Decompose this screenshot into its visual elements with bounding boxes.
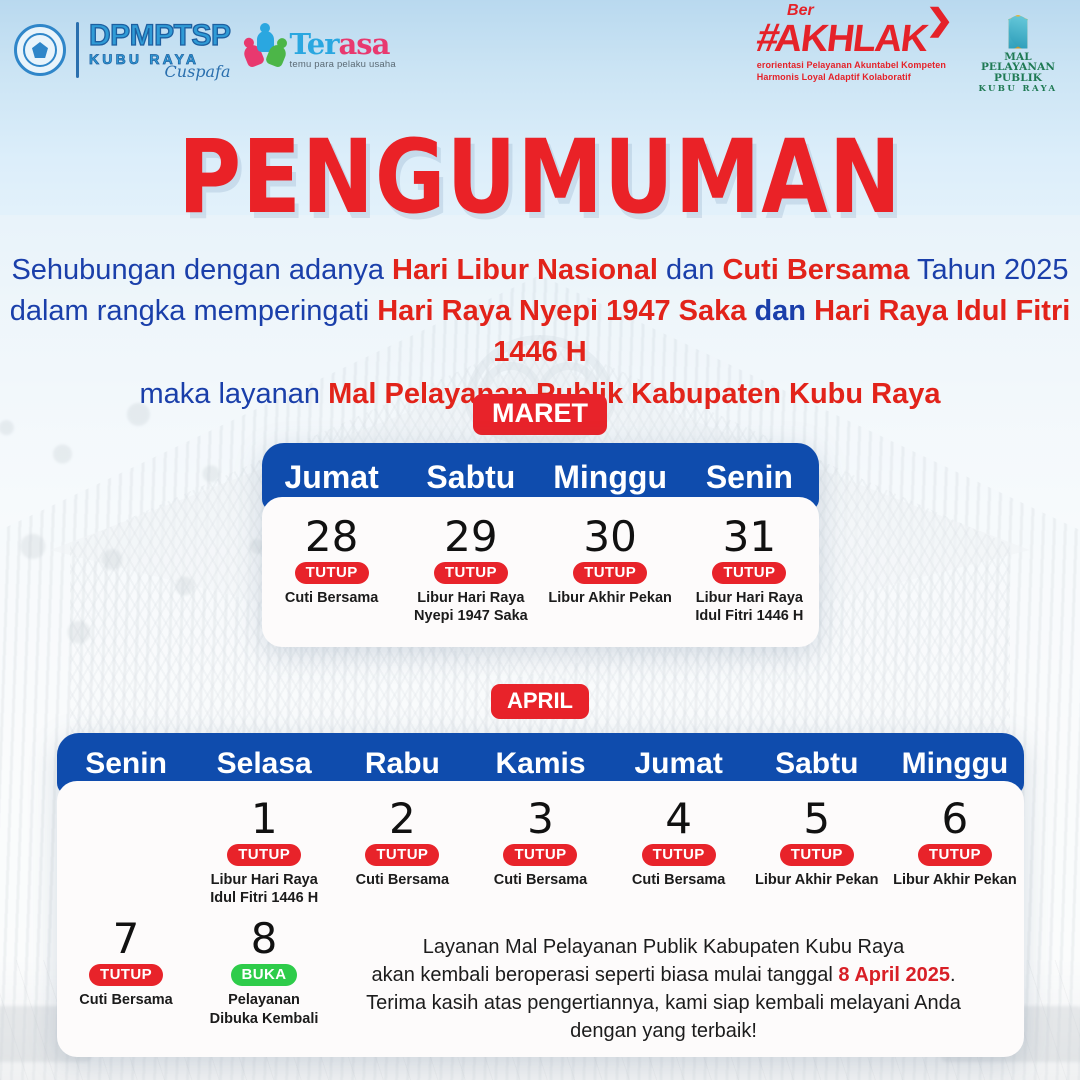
day-cell: 6 TUTUP Libur Akhir Pekan [886,797,1024,907]
footer-note: Layanan Mal Pelayanan Publik Kabupaten K… [333,917,1024,1045]
day-cell-empty [57,797,195,907]
day-cell: 7 TUTUP Cuti Bersama [57,917,195,1027]
terasa-name-part-b: asa [339,27,390,61]
calendar-april: Senin Selasa Rabu Kamis Jumat Sabtu Ming… [57,733,1024,1057]
footer-line-2: akan kembali beroperasi seperti biasa mu… [343,961,984,989]
intro-l2-b: Hari Raya Nyepi 1947 Saka [377,295,746,327]
status-badge: TUTUP [918,844,992,866]
footer-line-3: Terima kasih atas pengertiannya, kami si… [343,989,984,1017]
day-description: Libur Hari RayaIdul Fitri 1446 H [684,589,815,625]
status-badge: TUTUP [227,844,301,866]
day-number: 7 [61,917,191,961]
footer-line-1: Layanan Mal Pelayanan Publik Kabupaten K… [343,933,984,961]
berakhlak-tagline-line1: erorientasi Pelayanan Akuntabel Kompeten [757,61,946,70]
intro-l1-e: Tahun 2025 [909,254,1068,286]
status-badge: BUKA [231,964,298,986]
terasa-logo: Terasa temu para pelaku usaha [245,30,396,70]
day-number: 30 [545,515,676,559]
dpmptsp-logo: DPMPTSP KUBU RAYA Cuspafa [14,21,231,80]
month-label-maret: MARET [0,394,1080,435]
mpp-title: MAL PELAYANAN PUBLIK [970,52,1066,84]
day-number: 28 [266,515,397,559]
terasa-people-icon [245,31,285,69]
calendar-row: 7 TUTUP Cuti Bersama 8 BUKA PelayananDib… [57,917,1024,1045]
status-badge: TUTUP [780,844,854,866]
page-title: PENGUMUMAN [0,128,1080,228]
berakhlak-tagline-line2: Harmonis Loyal Adaptif Kolaboratif [757,73,946,82]
status-badge: TUTUP [712,562,786,584]
day-number: 3 [475,797,605,841]
day-cell: 1 TUTUP Libur Hari RayaIdul Fitri 1446 H [195,797,333,907]
calendar-maret: Jumat Sabtu Minggu Senin 28 TUTUP Cuti B… [262,443,819,647]
day-cell: 3 TUTUP Cuti Bersama [471,797,609,907]
mpp-subtitle: KUBU RAYA [970,85,1066,94]
day-number: 6 [890,797,1020,841]
berakhlak-main: AKHLAK [773,20,930,58]
terasa-tagline: temu para pelaku usaha [290,60,396,70]
logo-bar: DPMPTSP KUBU RAYA Cuspafa Terasa temu pa… [0,0,1080,100]
day-cell: 30 TUTUP Libur Akhir Pekan [541,515,680,625]
terasa-wordmark: Terasa temu para pelaku usaha [290,30,396,70]
intro-l1-b: Hari Libur Nasional [392,254,658,286]
status-badge: TUTUP [89,964,163,986]
calendar-row: 28 TUTUP Cuti Bersama 29 TUTUP Libur Har… [262,515,819,625]
day-description: Cuti Bersama [614,871,744,889]
day-cell: 8 BUKA PelayananDibuka Kembali [195,917,333,1027]
footer-l2-c: . [950,964,956,986]
day-description: Libur Akhir Pekan [752,871,882,889]
footer-reopen-date: 8 April 2025 [838,964,950,986]
status-badge: TUTUP [573,562,647,584]
day-number: 4 [614,797,744,841]
calendar-row: 1 TUTUP Libur Hari RayaIdul Fitri 1446 H… [57,797,1024,907]
footer-l2-a: akan kembali beroperasi seperti biasa mu… [371,964,838,986]
status-badge: TUTUP [365,844,439,866]
day-number: 8 [199,917,329,961]
month-label-april: APRIL [0,684,1080,719]
intro-paragraph: Sehubungan dengan adanya Hari Libur Nasi… [0,250,1080,415]
day-cell: 29 TUTUP Libur Hari RayaNyepi 1947 Saka [401,515,540,625]
day-description: Libur Hari RayaIdul Fitri 1446 H [199,871,329,907]
maret-badge: MARET [473,394,607,435]
intro-l1-c: dan [658,254,723,286]
status-badge: TUTUP [642,844,716,866]
dpmptsp-wordmark: DPMPTSP KUBU RAYA Cuspafa [89,21,231,80]
mpp-building-icon [970,7,1066,49]
day-number: 29 [405,515,536,559]
day-number: 2 [337,797,467,841]
day-description: Cuti Bersama [266,589,397,607]
intro-l2-c: dan [746,295,814,327]
title-text: PENGUMUMAN [0,119,1080,237]
day-cell: 2 TUTUP Cuti Bersama [333,797,471,907]
day-number: 31 [684,515,815,559]
terasa-name-part-a: Ter [290,27,339,61]
dpmptsp-title: DPMPTSP [89,21,231,51]
status-badge: TUTUP [295,562,369,584]
day-description: Cuti Bersama [475,871,605,889]
day-cell: 31 TUTUP Libur Hari RayaIdul Fitri 1446 … [680,515,819,625]
day-description: Cuti Bersama [337,871,467,889]
intro-l1-d: Cuti Bersama [722,254,909,286]
logo-group-left: DPMPTSP KUBU RAYA Cuspafa Terasa temu pa… [14,21,396,80]
intro-line-2: dalam rangka memperingati Hari Raya Nyep… [0,291,1080,373]
day-number: 1 [199,797,329,841]
day-description: Cuti Bersama [61,991,191,1009]
day-description: Libur Hari RayaNyepi 1947 Saka [405,589,536,625]
april-badge: APRIL [491,684,589,719]
day-cell: 28 TUTUP Cuti Bersama [262,515,401,625]
day-cell: 5 TUTUP Libur Akhir Pekan [748,797,886,907]
intro-line-1: Sehubungan dengan adanya Hari Libur Nasi… [0,250,1080,291]
day-number: 5 [752,797,882,841]
kubu-raya-seal-icon [14,24,66,76]
day-description: Libur Akhir Pekan [890,871,1020,889]
intro-l1-a: Sehubungan dengan adanya [11,254,392,286]
calendar-maret-body: 28 TUTUP Cuti Bersama 29 TUTUP Libur Har… [262,497,819,647]
chevron-right-icon: ❯ [926,6,954,36]
announcement-poster: DPMPTSP KUBU RAYA Cuspafa Terasa temu pa… [0,0,1080,1080]
status-badge: TUTUP [503,844,577,866]
intro-l2-a: dalam rangka memperingati [10,295,378,327]
calendar-row2-days: 7 TUTUP Cuti Bersama 8 BUKA PelayananDib… [57,917,333,1027]
divider [76,22,79,78]
berakhlak-ber: Ber [787,3,814,19]
day-cell: 4 TUTUP Cuti Bersama [610,797,748,907]
status-badge: TUTUP [434,562,508,584]
day-description: PelayananDibuka Kembali [199,991,329,1027]
mpp-logo: MAL PELAYANAN PUBLIK KUBU RAYA [970,7,1066,94]
logo-group-right: # Ber AKHLAK ❯ erorientasi Pelayanan Aku… [757,7,1066,94]
calendar-april-body: 1 TUTUP Libur Hari RayaIdul Fitri 1446 H… [57,781,1024,1057]
day-description: Libur Akhir Pekan [545,589,676,607]
berakhlak-logo: # Ber AKHLAK ❯ erorientasi Pelayanan Aku… [757,18,952,82]
footer-line-4: dengan yang terbaik! [343,1017,984,1045]
